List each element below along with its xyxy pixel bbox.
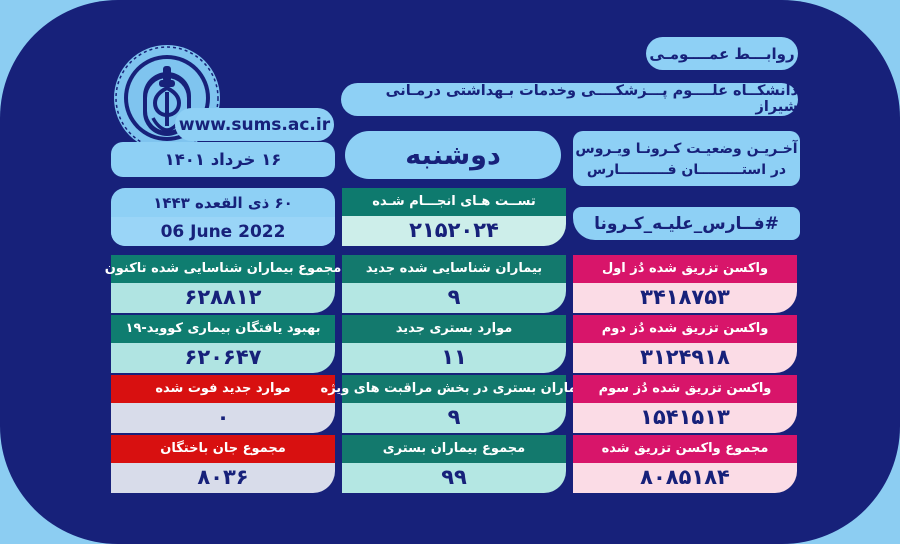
stat-value: ۹	[342, 283, 566, 313]
stat-value: ۹۹	[342, 463, 566, 493]
headline-line-1: آخـریـن وضعیـت کـرونـا ویـروس	[575, 139, 797, 159]
stat-vaccine-total: مجموع واکسن تزریق شده ۸۰۸۵۱۸۴	[573, 435, 797, 493]
stat-value: ۲۱۵۲۰۲۴	[342, 216, 566, 246]
stat-new-deaths: موارد جدید فوت شده ۰	[111, 375, 335, 433]
hijri-date: ۶۰ ذی القعده ۱۴۴۳	[111, 188, 335, 217]
stat-value: ۱۱	[342, 343, 566, 373]
headline: آخـریـن وضعیـت کـرونـا ویـروس در استــــ…	[573, 131, 800, 186]
date-block: ۶۰ ذی القعده ۱۴۴۳ 06 June 2022	[111, 188, 335, 246]
stat-icu-patients: بیماران بستری در بخش مراقبت های ویژه ۹	[342, 375, 566, 433]
stat-total-deaths: مجموع جان باختگان ۸۰۳۶	[111, 435, 335, 493]
stat-value: ۸۰۸۵۱۸۴	[573, 463, 797, 493]
stat-recovered-covid19-patients: بهبود یافتگان بیماری کووید-۱۹ ۶۲۰۶۴۷	[111, 315, 335, 373]
persian-date: ۱۶ خرداد ۱۴۰۱	[111, 142, 335, 177]
main-navy-panel: www.sums.ac.ir روابـــط عمــــومـی دانشک…	[0, 0, 900, 544]
hashtag-badge: #فــارس_علیـه_کـرونا	[573, 207, 800, 240]
stat-value: ۸۰۳۶	[111, 463, 335, 493]
gregorian-date: 06 June 2022	[111, 217, 335, 246]
stat-value: ۰	[111, 403, 335, 433]
stat-label: بیماران بستری در بخش مراقبت های ویژه	[342, 375, 566, 403]
stat-value: ۶۲۰۶۴۷	[111, 343, 335, 373]
university-name: دانشکــاه علــــوم پـــزشکــــی وخدمات ب…	[341, 83, 798, 116]
stat-value: ۹	[342, 403, 566, 433]
stat-vaccine-dose-2: واکسن تزریق شده دُز دوم ۳۱۲۴۹۱۸	[573, 315, 797, 373]
stat-label: مجموع جان باختگان	[111, 435, 335, 463]
stat-value: ۳۴۱۸۷۵۳	[573, 283, 797, 313]
stat-label: واکسن تزریق شده دُز اول	[573, 255, 797, 283]
stat-tests-performed: تســت هـای انجـــام شـده ۲۱۵۲۰۲۴	[342, 188, 566, 246]
stat-vaccine-dose-1: واکسن تزریق شده دُز اول ۳۴۱۸۷۵۳	[573, 255, 797, 313]
stat-label: بیماران شناسایی شده جدید	[342, 255, 566, 283]
weekday-badge: دوشنبه	[345, 131, 561, 179]
headline-line-2: در استـــــــــان فــــــــــارس	[587, 160, 786, 180]
stat-vaccine-dose-3: واکسن تزریق شده دُز سوم ۱۵۴۱۵۱۳	[573, 375, 797, 433]
stat-value: ۱۵۴۱۵۱۳	[573, 403, 797, 433]
stat-label: واکسن تزریق شده دُز سوم	[573, 375, 797, 403]
stat-label: موارد بستری جدید	[342, 315, 566, 343]
infographic-canvas: www.sums.ac.ir روابـــط عمــــومـی دانشک…	[0, 0, 900, 544]
stat-label: واکسن تزریق شده دُز دوم	[573, 315, 797, 343]
stat-total-identified-patients: مجموع بیماران شناسایی شده تاکنون ۶۲۸۸۱۲	[111, 255, 335, 313]
public-relations-label: روابـــط عمــــومـی	[646, 37, 798, 70]
stat-label: تســت هـای انجـــام شـده	[342, 188, 566, 216]
stat-value: ۶۲۸۸۱۲	[111, 283, 335, 313]
stat-label: مجموع واکسن تزریق شده	[573, 435, 797, 463]
stat-label: مجموع بیماران بستری	[342, 435, 566, 463]
stat-label: مجموع بیماران شناسایی شده تاکنون	[111, 255, 335, 283]
stat-value: ۳۱۲۴۹۱۸	[573, 343, 797, 373]
stat-new-hospitalizations: موارد بستری جدید ۱۱	[342, 315, 566, 373]
stat-label: بهبود یافتگان بیماری کووید-۱۹	[111, 315, 335, 343]
stat-total-hospitalized: مجموع بیماران بستری ۹۹	[342, 435, 566, 493]
stat-new-identified-patients: بیماران شناسایی شده جدید ۹	[342, 255, 566, 313]
stat-label: موارد جدید فوت شده	[111, 375, 335, 403]
website-url[interactable]: www.sums.ac.ir	[175, 108, 334, 141]
